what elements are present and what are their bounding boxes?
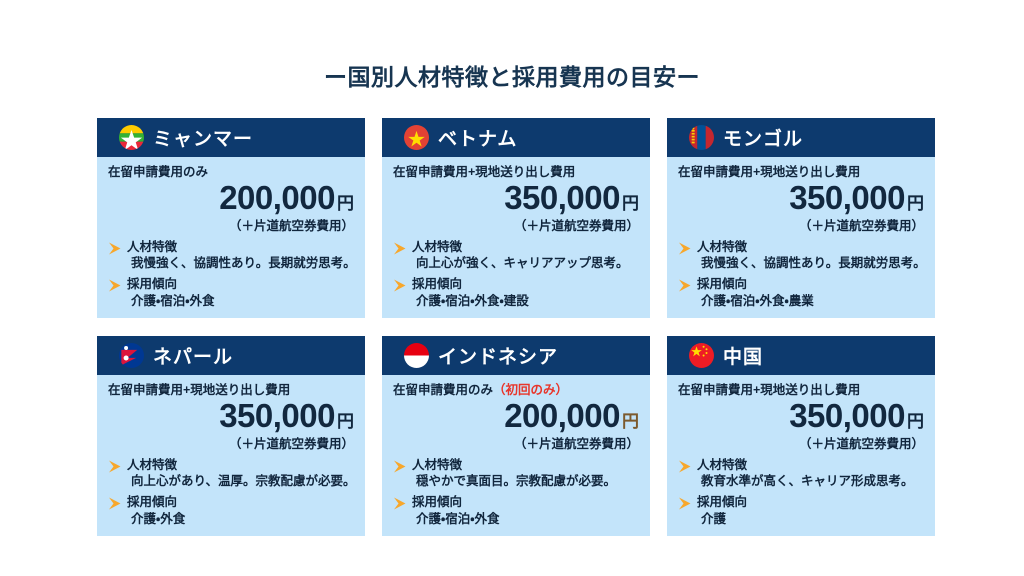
myanmar-flag-icon [119, 125, 144, 150]
yen-unit: 円 [622, 194, 639, 213]
card-body: 在留申請費用のみ（初回のみ）200,000円（＋片道航空券費用）人材特徴穏やかで… [382, 375, 650, 536]
talent-text: 向上心が強く、キャリアアップ思考。 [416, 256, 639, 271]
chevron-right-icon [393, 460, 407, 473]
hiring-heading: 採用傾向 [697, 277, 924, 291]
country-name: ミャンマー [153, 124, 253, 151]
airfare-note: （＋片道航空券費用） [393, 215, 639, 234]
card-header: 中国 [667, 336, 935, 375]
country-name: インドネシア [438, 342, 558, 369]
card-header: インドネシア [382, 336, 650, 375]
hiring-section: 採用傾向介護・宿泊・外食 [108, 277, 354, 308]
card-header: ミャンマー [97, 118, 365, 157]
page-title: ー国別人材特徴と採用費用の目安ー [0, 58, 1024, 92]
talent-heading: 人材特徴 [412, 458, 639, 472]
chevron-right-icon [108, 460, 122, 473]
country-card: ベトナム在留申請費用+現地送り出し費用350,000円（＋片道航空券費用）人材特… [382, 118, 650, 318]
talent-text: 我慢強く、協調性あり。長期就労思考。 [131, 256, 354, 271]
country-card: インドネシア在留申請費用のみ（初回のみ）200,000円（＋片道航空券費用）人材… [382, 336, 650, 536]
hiring-text: 介護・宿泊・外食 [416, 512, 639, 527]
hiring-text: 介護・宿泊・外食 [131, 294, 354, 309]
fee-note: （初回のみ） [493, 383, 568, 397]
card-body: 在留申請費用+現地送り出し費用350,000円（＋片道航空券費用）人材特徴向上心… [97, 375, 365, 536]
nepal-flag-icon [119, 343, 144, 368]
talent-heading: 人材特徴 [697, 240, 924, 254]
card-body: 在留申請費用のみ200,000円（＋片道航空券費用）人材特徴我慢強く、協調性あり… [97, 157, 365, 318]
yen-unit: 円 [622, 412, 639, 431]
chevron-right-icon [393, 497, 407, 510]
amount-value: 200,000 [504, 397, 620, 434]
country-name: モンゴル [723, 124, 803, 151]
talent-text: 向上心があり、温厚。宗教配慮が必要。 [131, 474, 354, 489]
talent-section: 人材特徴向上心が強く、キャリアアップ思考。 [393, 240, 639, 271]
hiring-section: 採用傾向介護・外食 [108, 495, 354, 526]
hiring-text: 介護・宿泊・外食・農業 [701, 294, 924, 309]
chevron-right-icon [108, 279, 122, 292]
china-flag-icon [689, 343, 714, 368]
hiring-text: 介護・外食 [131, 512, 354, 527]
hiring-text: 介護・宿泊・外食・建設 [416, 294, 639, 309]
hiring-text: 介護 [701, 512, 924, 527]
talent-section: 人材特徴我慢強く、協調性あり。長期就労思考。 [678, 240, 924, 271]
country-card: 中国在留申請費用+現地送り出し費用350,000円（＋片道航空券費用）人材特徴教… [667, 336, 935, 536]
fee-label-text: 在留申請費用のみ [108, 165, 208, 179]
amount-value: 350,000 [504, 179, 620, 216]
chevron-right-icon [678, 497, 692, 510]
chevron-right-icon [108, 242, 122, 255]
talent-heading: 人材特徴 [127, 458, 354, 472]
hiring-section: 採用傾向介護・宿泊・外食・建設 [393, 277, 639, 308]
country-name: ネパール [153, 342, 233, 369]
card-body: 在留申請費用+現地送り出し費用350,000円（＋片道航空券費用）人材特徴我慢強… [667, 157, 935, 318]
fee-label: 在留申請費用のみ [108, 166, 354, 180]
chevron-right-icon [678, 242, 692, 255]
yen-unit: 円 [907, 194, 924, 213]
fee-label: 在留申請費用+現地送り出し費用 [678, 384, 924, 398]
country-name: 中国 [723, 342, 763, 369]
amount-row: 200,000円 [393, 399, 639, 432]
fee-label: 在留申請費用+現地送り出し費用 [678, 166, 924, 180]
hiring-heading: 採用傾向 [412, 495, 639, 509]
fee-label-text: 在留申請費用+現地送り出し費用 [108, 383, 290, 397]
fee-label-text: 在留申請費用のみ [393, 383, 493, 397]
hiring-heading: 採用傾向 [127, 495, 354, 509]
talent-heading: 人材特徴 [412, 240, 639, 254]
country-card: ミャンマー在留申請費用のみ200,000円（＋片道航空券費用）人材特徴我慢強く、… [97, 118, 365, 318]
hiring-section: 採用傾向介護 [678, 495, 924, 526]
chevron-right-icon [108, 497, 122, 510]
vietnam-flag-icon [404, 125, 429, 150]
amount-row: 200,000円 [108, 181, 354, 214]
amount-row: 350,000円 [678, 181, 924, 214]
card-header: ベトナム [382, 118, 650, 157]
talent-text: 穏やかで真面目。宗教配慮が必要。 [416, 474, 639, 489]
amount-value: 200,000 [219, 179, 335, 216]
fee-label-text: 在留申請費用+現地送り出し費用 [393, 165, 575, 179]
talent-section: 人材特徴向上心があり、温厚。宗教配慮が必要。 [108, 458, 354, 489]
airfare-note: （＋片道航空券費用） [108, 215, 354, 234]
country-card-grid: ミャンマー在留申請費用のみ200,000円（＋片道航空券費用）人材特徴我慢強く、… [97, 118, 935, 536]
chevron-right-icon [678, 279, 692, 292]
fee-label: 在留申請費用+現地送り出し費用 [108, 384, 354, 398]
talent-text: 教育水準が高く、キャリア形成思考。 [701, 474, 924, 489]
fee-label-text: 在留申請費用+現地送り出し費用 [678, 165, 860, 179]
airfare-note: （＋片道航空券費用） [108, 433, 354, 452]
hiring-section: 採用傾向介護・宿泊・外食 [393, 495, 639, 526]
country-card: モンゴル在留申請費用+現地送り出し費用350,000円（＋片道航空券費用）人材特… [667, 118, 935, 318]
fee-label: 在留申請費用のみ（初回のみ） [393, 384, 639, 398]
yen-unit: 円 [907, 412, 924, 431]
hiring-heading: 採用傾向 [697, 495, 924, 509]
country-card: ネパール在留申請費用+現地送り出し費用350,000円（＋片道航空券費用）人材特… [97, 336, 365, 536]
yen-unit: 円 [337, 412, 354, 431]
chevron-right-icon [393, 242, 407, 255]
indonesia-flag-icon [404, 343, 429, 368]
talent-text: 我慢強く、協調性あり。長期就労思考。 [701, 256, 924, 271]
amount-value: 350,000 [789, 179, 905, 216]
airfare-note: （＋片道航空券費用） [393, 433, 639, 452]
fee-label: 在留申請費用+現地送り出し費用 [393, 166, 639, 180]
talent-heading: 人材特徴 [127, 240, 354, 254]
amount-row: 350,000円 [393, 181, 639, 214]
card-header: モンゴル [667, 118, 935, 157]
chevron-right-icon [393, 279, 407, 292]
amount-value: 350,000 [219, 397, 335, 434]
fee-label-text: 在留申請費用+現地送り出し費用 [678, 383, 860, 397]
chevron-right-icon [678, 460, 692, 473]
airfare-note: （＋片道航空券費用） [678, 433, 924, 452]
talent-section: 人材特徴教育水準が高く、キャリア形成思考。 [678, 458, 924, 489]
talent-section: 人材特徴穏やかで真面目。宗教配慮が必要。 [393, 458, 639, 489]
talent-section: 人材特徴我慢強く、協調性あり。長期就労思考。 [108, 240, 354, 271]
mongolia-flag-icon [689, 125, 714, 150]
card-header: ネパール [97, 336, 365, 375]
talent-heading: 人材特徴 [697, 458, 924, 472]
card-body: 在留申請費用+現地送り出し費用350,000円（＋片道航空券費用）人材特徴向上心… [382, 157, 650, 318]
airfare-note: （＋片道航空券費用） [678, 215, 924, 234]
amount-row: 350,000円 [678, 399, 924, 432]
hiring-heading: 採用傾向 [127, 277, 354, 291]
card-body: 在留申請費用+現地送り出し費用350,000円（＋片道航空券費用）人材特徴教育水… [667, 375, 935, 536]
yen-unit: 円 [337, 194, 354, 213]
hiring-section: 採用傾向介護・宿泊・外食・農業 [678, 277, 924, 308]
hiring-heading: 採用傾向 [412, 277, 639, 291]
amount-value: 350,000 [789, 397, 905, 434]
country-name: ベトナム [438, 124, 517, 151]
amount-row: 350,000円 [108, 399, 354, 432]
